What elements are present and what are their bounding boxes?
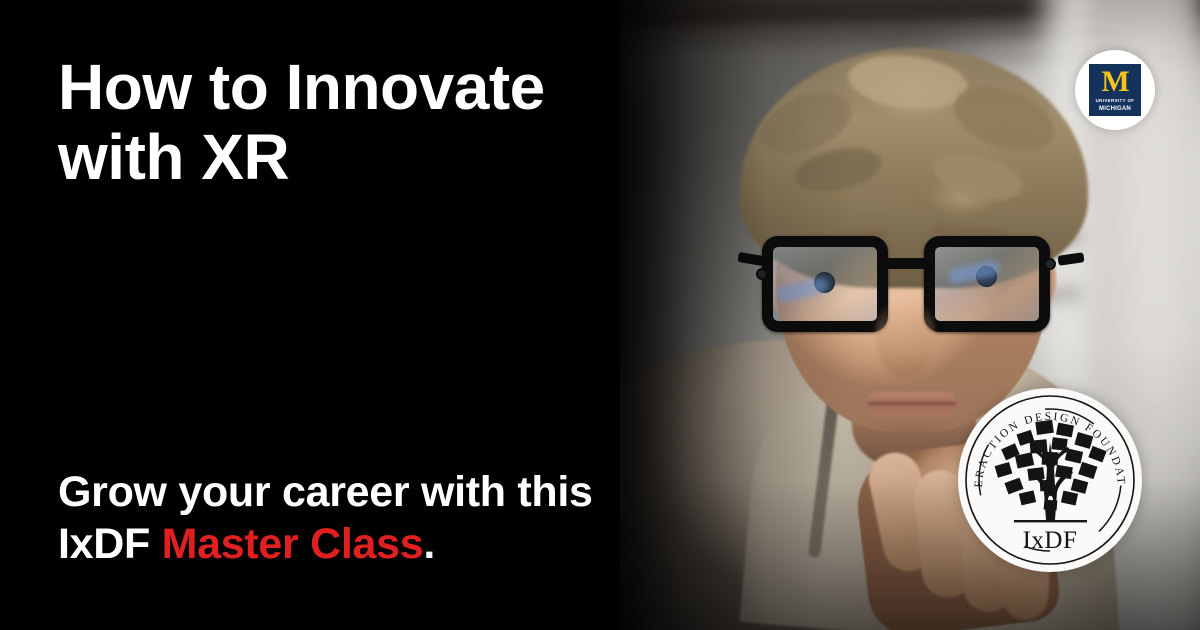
headline-line-2: with XR xyxy=(58,121,289,193)
headline: How to Innovatewith XR xyxy=(58,52,598,193)
headline-line-1: How to Innovate xyxy=(58,51,545,123)
um-wordmark: UNIVERSITY OF MICHIGAN xyxy=(1096,98,1135,114)
subheadline-suffix: . xyxy=(423,520,435,568)
um-plate: M UNIVERSITY OF MICHIGAN xyxy=(1089,64,1141,116)
subheadline-accent: Master Class xyxy=(162,520,424,568)
um-wordmark-line-1: UNIVERSITY OF xyxy=(1096,98,1135,105)
text-panel: How to Innovatewith XR Grow your career … xyxy=(0,0,620,630)
um-wordmark-line-2: MICHIGAN xyxy=(1096,105,1135,114)
university-of-michigan-logo: M UNIVERSITY OF MICHIGAN xyxy=(1075,50,1155,130)
interaction-design-foundation-logo: INTERACTION DESIGN FOUNDATION xyxy=(958,388,1142,572)
um-monogram: M xyxy=(1101,68,1128,96)
promo-card: How to Innovatewith XR Grow your career … xyxy=(0,0,1200,630)
ixdf-wordmark: IxDF xyxy=(1023,527,1078,554)
subheadline: Grow your career with this IxDF Master C… xyxy=(58,466,598,571)
